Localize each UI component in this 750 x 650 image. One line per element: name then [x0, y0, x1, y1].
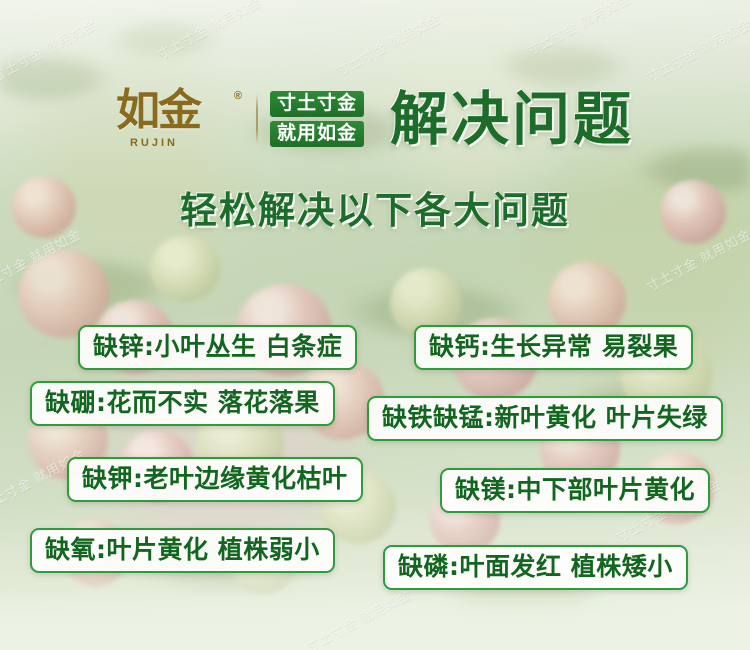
promo-poster: 寸土寸金 就用如金 寸土寸金 就用如金 寸土寸金 就用如金 寸土寸金 就用如金 …	[0, 0, 750, 650]
brand-logo: 如金 ® RUJIN 寸土寸金 就用如金	[116, 88, 364, 150]
page-subtitle: 轻松解决以下各大问题	[0, 190, 750, 232]
symptom-tag-phosphorus[interactable]: 缺磷:叶面发红 植株矮小	[383, 545, 688, 590]
background-bottom-fade	[0, 592, 750, 650]
slogan-line-1: 寸土寸金	[270, 91, 364, 117]
page-title: 解决问题	[390, 88, 634, 150]
registered-trademark-icon: ®	[234, 90, 242, 102]
symptom-tag-potassium[interactable]: 缺钾:老叶边缘黄化枯叶	[67, 457, 363, 502]
symptom-tag-magnesium[interactable]: 缺镁:中下部叶片黄化	[440, 468, 710, 513]
symptom-tag-boron[interactable]: 缺硼:花而不实 落花落果	[30, 381, 335, 426]
slogan-line-2: 就用如金	[270, 121, 364, 147]
logo-pinyin: RUJIN	[130, 137, 178, 149]
brand-slogan: 寸土寸金 就用如金	[270, 91, 364, 147]
symptom-tag-calcium[interactable]: 缺钙:生长异常 易裂果	[414, 325, 693, 370]
symptom-tag-iron-manganese[interactable]: 缺铁缺锰:新叶黄化 叶片失绿	[367, 396, 723, 441]
poster-header: 如金 ® RUJIN 寸土寸金 就用如金 解决问题	[0, 88, 750, 150]
symptom-tag-oxygen[interactable]: 缺氧:叶片黄化 植株弱小	[30, 528, 335, 573]
logo-mark: 如金 ® RUJIN	[116, 88, 244, 150]
logo-chinese-name: 如金	[116, 88, 200, 134]
symptom-tag-zinc[interactable]: 缺锌:小叶丛生 白条症	[78, 325, 357, 370]
logo-divider	[256, 94, 258, 144]
